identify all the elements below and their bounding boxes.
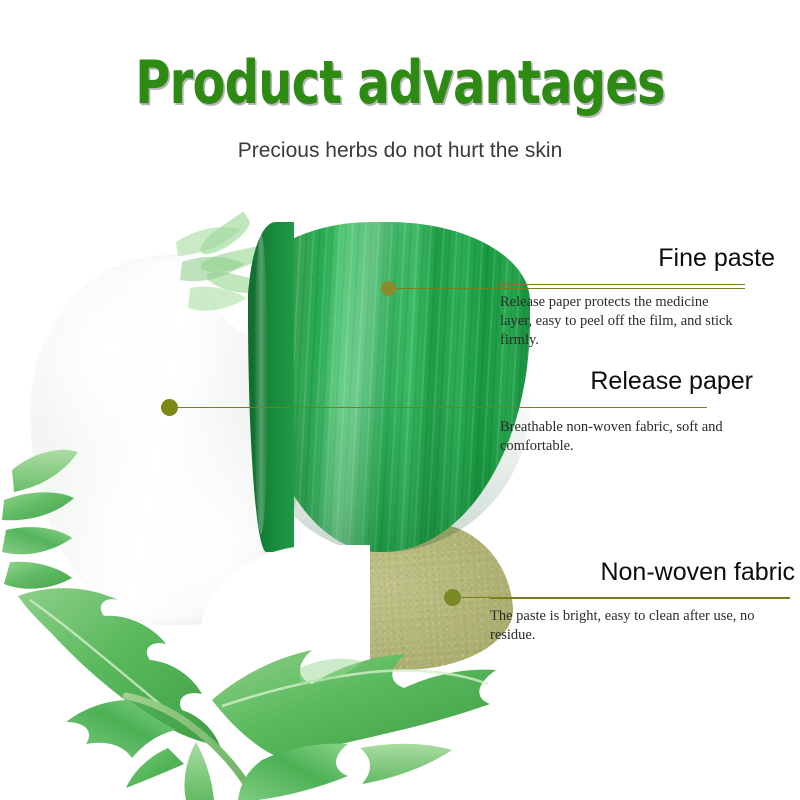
leaf-accent-top	[176, 227, 246, 310]
leaf-main-right	[212, 650, 496, 800]
callout-heading-fine-paste: Fine paste	[658, 243, 775, 273]
leader-line-fine-paste	[392, 288, 745, 289]
marker-dot-fine-paste[interactable]	[381, 281, 396, 296]
callout-heading-non-woven-fabric: Non-woven fabric	[600, 557, 795, 587]
marker-dot-release-paper[interactable]	[161, 399, 178, 416]
callout-body-fine-paste: Release paper protects the medicine laye…	[500, 293, 740, 350]
callout-body-release-paper: Breathable non-woven fabric, soft and co…	[500, 418, 730, 456]
marker-dot-non-woven-fabric[interactable]	[444, 589, 461, 606]
leaf-cluster-left-upper	[2, 450, 78, 589]
callout-rule-non-woven-fabric	[490, 598, 790, 599]
callout-rule-release-paper	[500, 407, 707, 408]
callout-body-non-woven-fabric: The paste is bright, easy to clean after…	[490, 607, 795, 645]
callout-rule-fine-paste	[500, 284, 745, 285]
product-infographic: Product advantages Precious herbs do not…	[0, 0, 800, 800]
callout-heading-release-paper: Release paper	[590, 366, 753, 396]
mugwort-foliage	[0, 0, 800, 800]
